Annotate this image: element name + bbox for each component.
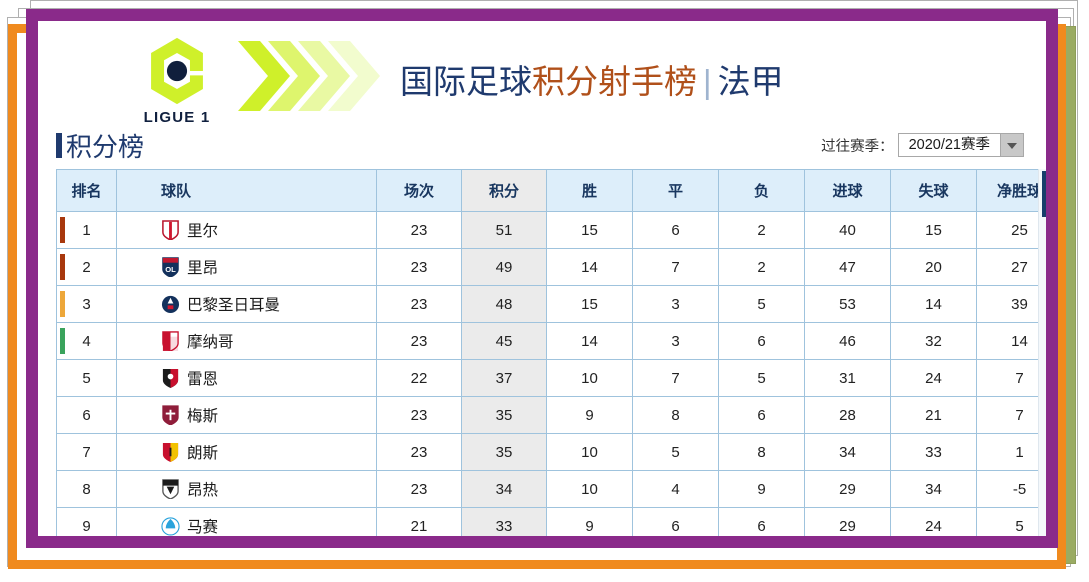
cell-goals-for: 47: [805, 249, 891, 286]
standings-header-row: 排名 球队 场次 积分 胜 平 负 进球 失球 净胜球: [57, 170, 1047, 212]
qualification-marker-icon: [60, 254, 65, 280]
cell-points: 35: [462, 434, 547, 471]
cell-goals-for: 53: [805, 286, 891, 323]
cell-rank: 1: [57, 212, 117, 249]
cell-team[interactable]: 昂热: [117, 471, 377, 508]
cell-played: 23: [377, 323, 462, 360]
cell-played: 23: [377, 212, 462, 249]
cell-team[interactable]: 雷恩: [117, 360, 377, 397]
cell-goals-for: 29: [805, 471, 891, 508]
cell-goals-against: 20: [891, 249, 977, 286]
column-header-played[interactable]: 场次: [377, 170, 462, 212]
season-selector: 过往赛季： 2020/21赛季: [821, 133, 1024, 157]
table-row[interactable]: 4摩纳哥23451436463214: [57, 323, 1047, 360]
cell-draw: 7: [633, 360, 719, 397]
team-cell-content: 昂热: [117, 478, 376, 500]
page-title: 国际足球积分射手榜|法甲: [400, 61, 784, 103]
marseille-crest-icon: [161, 516, 180, 537]
rank-value: 2: [82, 259, 90, 276]
section-heading-bar-icon: [56, 133, 62, 158]
svg-text:OL: OL: [165, 265, 176, 274]
table-row[interactable]: 8昂热233410492934-5: [57, 471, 1047, 508]
cell-draw: 3: [633, 323, 719, 360]
cell-points: 49: [462, 249, 547, 286]
ligue1-brand: LIGUE 1: [122, 35, 232, 126]
cell-played: 21: [377, 508, 462, 537]
angers-crest-icon: [161, 479, 180, 500]
cell-loss: 8: [719, 434, 805, 471]
table-row[interactable]: 3巴黎圣日耳曼23481535531439: [57, 286, 1047, 323]
cell-team[interactable]: 摩纳哥: [117, 323, 377, 360]
table-row[interactable]: 2OL里昂23491472472027: [57, 249, 1047, 286]
cell-loss: 6: [719, 397, 805, 434]
cell-goals-for: 31: [805, 360, 891, 397]
page-title-league: 法甲: [718, 63, 784, 100]
cell-loss: 5: [719, 286, 805, 323]
qualification-marker-icon: [60, 291, 65, 317]
cell-goals-for: 34: [805, 434, 891, 471]
season-dropdown[interactable]: 2020/21赛季: [898, 133, 1024, 157]
section-heading: 积分榜: [56, 127, 144, 164]
lille-crest-icon: [161, 220, 180, 241]
cell-team[interactable]: 巴黎圣日耳曼: [117, 286, 377, 323]
cell-goal-diff: 7: [977, 397, 1047, 434]
cell-team[interactable]: 马赛: [117, 508, 377, 537]
cell-loss: 2: [719, 212, 805, 249]
cell-played: 23: [377, 471, 462, 508]
cell-played: 23: [377, 249, 462, 286]
cell-rank: 4: [57, 323, 117, 360]
team-name: 梅斯: [187, 404, 218, 426]
standings-table: 排名 球队 场次 积分 胜 平 负 进球 失球 净胜球 1里尔235115624: [56, 169, 1046, 536]
table-row[interactable]: 1里尔23511562401525: [57, 212, 1047, 249]
cell-team[interactable]: 朗斯: [117, 434, 377, 471]
column-header-points[interactable]: 积分: [462, 170, 547, 212]
team-cell-content: 雷恩: [117, 367, 376, 389]
rank-value: 8: [82, 481, 90, 498]
lens-crest-icon: [161, 442, 180, 463]
cell-draw: 4: [633, 471, 719, 508]
cell-rank: 7: [57, 434, 117, 471]
screenshot-root: LIGUE 1 国际足球积分射手榜|法甲 积分榜 过往赛季： 2020/21: [0, 0, 1089, 582]
cell-draw: 6: [633, 508, 719, 537]
cell-draw: 6: [633, 212, 719, 249]
cell-goal-diff: -5: [977, 471, 1047, 508]
cell-goals-for: 28: [805, 397, 891, 434]
rank-value: 1: [82, 222, 90, 239]
cell-goals-for: 29: [805, 508, 891, 537]
card-content-area: LIGUE 1 国际足球积分射手榜|法甲 积分榜 过往赛季： 2020/21: [38, 21, 1046, 536]
lyon-crest-icon: OL: [161, 257, 180, 278]
table-row[interactable]: 7朗斯2335105834331: [57, 434, 1047, 471]
cell-rank: 8: [57, 471, 117, 508]
cell-loss: 5: [719, 360, 805, 397]
cell-points: 45: [462, 323, 547, 360]
cell-win: 10: [547, 434, 633, 471]
team-name: 昂热: [187, 478, 218, 500]
page-title-accent: 积分射手榜: [532, 63, 697, 100]
team-name: 马赛: [187, 515, 218, 536]
cell-goals-for: 40: [805, 212, 891, 249]
page-title-separator: |: [697, 63, 718, 100]
qualification-marker-icon: [60, 328, 65, 354]
cell-rank: 9: [57, 508, 117, 537]
team-name: 里昂: [187, 256, 218, 278]
cell-played: 23: [377, 397, 462, 434]
cell-loss: 6: [719, 323, 805, 360]
team-name: 雷恩: [187, 367, 218, 389]
chevron-stripes-icon: [234, 37, 394, 115]
cell-team[interactable]: 梅斯: [117, 397, 377, 434]
cell-goals-against: 24: [891, 508, 977, 537]
chevron-down-icon[interactable]: [1000, 134, 1023, 156]
column-header-goal-diff[interactable]: 净胜球: [977, 170, 1047, 212]
cell-loss: 6: [719, 508, 805, 537]
table-row[interactable]: 6梅斯233598628217: [57, 397, 1047, 434]
team-cell-content: OL里昂: [117, 256, 376, 278]
column-header-rank[interactable]: 排名: [57, 170, 117, 212]
cell-win: 9: [547, 397, 633, 434]
qualification-marker-icon: [60, 217, 65, 243]
cell-win: 10: [547, 471, 633, 508]
team-cell-content: 摩纳哥: [117, 330, 376, 352]
cell-rank: 3: [57, 286, 117, 323]
cell-loss: 2: [719, 249, 805, 286]
cell-team[interactable]: 里尔: [117, 212, 377, 249]
table-row[interactable]: 5雷恩2237107531247: [57, 360, 1047, 397]
cell-win: 15: [547, 286, 633, 323]
cell-points: 33: [462, 508, 547, 537]
cell-rank: 5: [57, 360, 117, 397]
team-cell-content: 里尔: [117, 219, 376, 241]
metz-crest-icon: [161, 405, 180, 426]
cell-goals-against: 34: [891, 471, 977, 508]
column-header-loss[interactable]: 负: [719, 170, 805, 212]
ligue1-wordmark: LIGUE 1: [122, 109, 232, 126]
cell-draw: 3: [633, 286, 719, 323]
team-cell-content: 马赛: [117, 515, 376, 536]
team-name: 巴黎圣日耳曼: [187, 293, 280, 315]
cell-win: 9: [547, 508, 633, 537]
cell-points: 37: [462, 360, 547, 397]
cell-team[interactable]: OL里昂: [117, 249, 377, 286]
cell-rank: 2: [57, 249, 117, 286]
cell-played: 23: [377, 434, 462, 471]
standings-body: 1里尔235115624015252OL里昂234914724720273巴黎圣…: [57, 212, 1047, 537]
cell-draw: 8: [633, 397, 719, 434]
main-purple-framed-card: LIGUE 1 国际足球积分射手榜|法甲 积分榜 过往赛季： 2020/21: [26, 9, 1058, 548]
cell-goals-against: 21: [891, 397, 977, 434]
cell-points: 51: [462, 212, 547, 249]
ligue1-logo-icon: [141, 35, 213, 107]
psg-crest-icon: [161, 294, 180, 315]
cell-played: 22: [377, 360, 462, 397]
cell-goals-against: 33: [891, 434, 977, 471]
cell-rank: 6: [57, 397, 117, 434]
column-header-win[interactable]: 胜: [547, 170, 633, 212]
rank-value: 4: [82, 333, 90, 350]
season-dropdown-value: 2020/21赛季: [899, 134, 1000, 156]
cell-win: 14: [547, 249, 633, 286]
cell-win: 15: [547, 212, 633, 249]
cell-loss: 9: [719, 471, 805, 508]
cell-goal-diff: 39: [977, 286, 1047, 323]
cell-goals-for: 46: [805, 323, 891, 360]
cell-goal-diff: 25: [977, 212, 1047, 249]
cell-goal-diff: 1: [977, 434, 1047, 471]
cell-points: 35: [462, 397, 547, 434]
page-title-primary: 国际足球: [400, 63, 532, 100]
team-cell-content: 梅斯: [117, 404, 376, 426]
rank-value: 3: [82, 296, 90, 313]
rennes-crest-icon: [161, 368, 180, 389]
cell-played: 23: [377, 286, 462, 323]
cell-win: 14: [547, 323, 633, 360]
team-cell-content: 朗斯: [117, 441, 376, 463]
team-name: 摩纳哥: [187, 330, 234, 352]
section-heading-label: 积分榜: [66, 127, 144, 164]
team-name: 里尔: [187, 219, 218, 241]
cell-draw: 7: [633, 249, 719, 286]
column-header-team[interactable]: 球队: [117, 170, 377, 212]
team-name: 朗斯: [187, 441, 218, 463]
cell-draw: 5: [633, 434, 719, 471]
cell-goals-against: 14: [891, 286, 977, 323]
cell-goal-diff: 14: [977, 323, 1047, 360]
cell-goals-against: 24: [891, 360, 977, 397]
rank-value: 7: [82, 444, 90, 461]
table-row[interactable]: 9马赛213396629245: [57, 508, 1047, 537]
rank-value: 6: [82, 407, 90, 424]
cell-goals-against: 15: [891, 212, 977, 249]
column-header-goals-against[interactable]: 失球: [891, 170, 977, 212]
team-cell-content: 巴黎圣日耳曼: [117, 293, 376, 315]
column-header-goals-for[interactable]: 进球: [805, 170, 891, 212]
table-scrollbar[interactable]: [1038, 169, 1046, 536]
table-scrollbar-thumb[interactable]: [1042, 171, 1046, 217]
cell-goal-diff: 5: [977, 508, 1047, 537]
cell-goal-diff: 27: [977, 249, 1047, 286]
column-header-draw[interactable]: 平: [633, 170, 719, 212]
cell-goal-diff: 7: [977, 360, 1047, 397]
cell-win: 10: [547, 360, 633, 397]
rank-value: 5: [82, 370, 90, 387]
rank-value: 9: [82, 518, 90, 535]
standings-table-container: 排名 球队 场次 积分 胜 平 负 进球 失球 净胜球 1里尔235115624: [56, 169, 1032, 536]
season-selector-label: 过往赛季：: [821, 135, 894, 156]
cell-goals-against: 32: [891, 323, 977, 360]
monaco-crest-icon: [161, 331, 180, 352]
cell-points: 48: [462, 286, 547, 323]
cell-points: 34: [462, 471, 547, 508]
